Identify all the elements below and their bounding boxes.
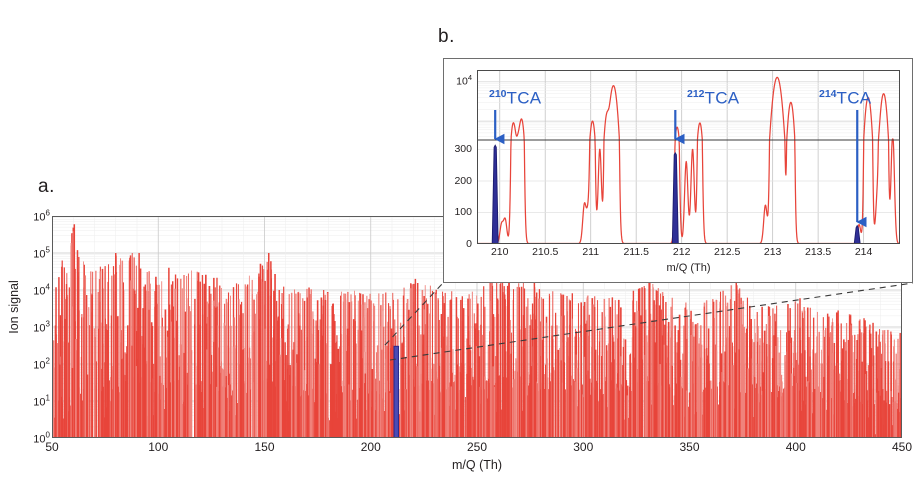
inset-x-tick: 212 [673, 246, 691, 258]
inset-y-tick: 100 [454, 206, 472, 218]
inset-y-tick: 300 [454, 143, 472, 155]
main-y-tick: 106 [33, 209, 50, 224]
main-x-tick: 250 [467, 440, 487, 454]
inset-y-tick: 104 [456, 73, 472, 88]
main-y-tick: 104 [33, 283, 50, 298]
inset-x-tick: 210.5 [532, 246, 558, 258]
inset-y-tick-labels: 0100200300104 [444, 59, 474, 244]
main-y-tick: 103 [33, 320, 50, 335]
figure-root: a. Ion signal 100101102103104105106 5010… [0, 0, 921, 488]
inset-zoom-panel: 0100200300104 210TCA212TCA214TCA 210210.… [443, 58, 913, 283]
main-y-tick-labels: 100101102103104105106 [0, 216, 50, 438]
inset-plot-area: 210TCA212TCA214TCA [477, 70, 900, 244]
panel-a-label: a. [38, 176, 55, 198]
main-x-tick: 300 [573, 440, 593, 454]
main-y-tick: 105 [33, 246, 50, 261]
main-x-tick: 400 [786, 440, 806, 454]
inset-x-tick: 212.5 [714, 246, 740, 258]
inset-x-tick: 213 [764, 246, 782, 258]
main-x-tick: 450 [892, 440, 912, 454]
main-y-tick: 101 [33, 394, 50, 409]
main-x-tick: 100 [148, 440, 168, 454]
panel-b-label: b. [438, 26, 455, 48]
isotope-label-214tca: 214TCA [819, 88, 871, 109]
main-x-tick: 50 [45, 440, 58, 454]
inset-x-axis-title: m/Q (Th) [477, 262, 900, 274]
main-x-tick: 350 [679, 440, 699, 454]
inset-x-tick: 214 [855, 246, 873, 258]
main-y-tick: 102 [33, 357, 50, 372]
inset-x-tick: 211.5 [623, 246, 649, 258]
main-x-tick: 150 [254, 440, 274, 454]
isotope-label-210tca: 210TCA [489, 88, 541, 109]
inset-y-tick: 200 [454, 175, 472, 187]
isotope-label-212tca: 212TCA [687, 88, 739, 109]
inset-x-tick: 211 [582, 246, 599, 258]
inset-y-tick: 0 [466, 238, 472, 250]
inset-x-tick: 210 [491, 246, 509, 258]
main-x-tick-labels: 50100150200250300350400450 [52, 440, 902, 456]
main-x-tick: 200 [361, 440, 381, 454]
main-x-axis-title: m/Q (Th) [52, 458, 902, 472]
inset-x-tick-labels: 210210.5211211.5212212.5213213.5214 [477, 246, 900, 260]
inset-x-tick: 213.5 [805, 246, 831, 258]
